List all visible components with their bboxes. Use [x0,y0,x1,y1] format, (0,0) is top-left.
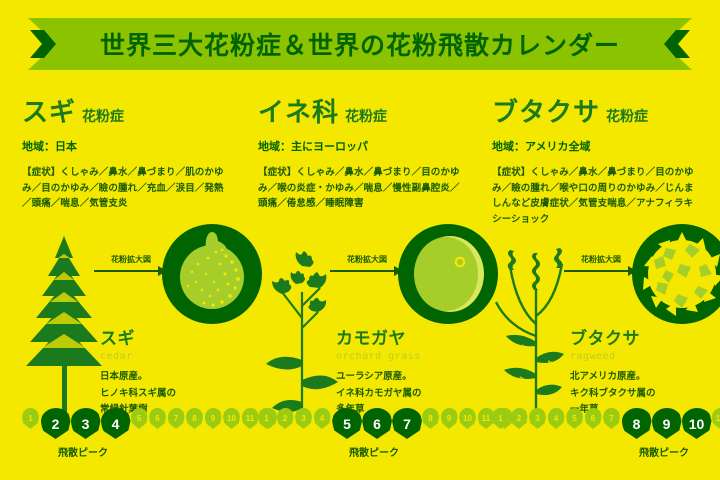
month-pin[interactable]: 3 [295,408,312,429]
month-pin-label: 7 [168,408,185,429]
pollen-column-cedar: スギ 花粉症 地域：日本 【症状】くしゃみ／鼻水／鼻づまり／肌のかゆみ／目のかゆ… [22,92,258,480]
month-pin-label: 11 [712,408,720,429]
month-pin-label: 8 [186,408,203,429]
month-pin[interactable]: 9 [441,408,458,429]
plant-name-jp: ブタクサ [570,324,720,349]
month-pin[interactable]: 7 [168,408,185,429]
month-pin-peak[interactable]: 3 [71,408,101,439]
month-pin[interactable]: 4 [314,408,331,429]
hayfever-suffix: 花粉症 [606,106,648,126]
grass-pollen-magnified [398,224,498,324]
month-pin-label: 6 [149,408,166,429]
plant-name-block: カモガヤ orchard grass ユーラシア原産。 イネ科カモガヤ属の 多年… [336,324,494,419]
month-pin-peak[interactable]: 7 [392,408,422,439]
month-pin-label: 2 [277,408,294,429]
plant-title: ブタクサ [492,92,600,129]
month-pin-label: 1 [22,408,39,429]
zoom-caption: 花粉拡大図 [562,254,640,265]
month-pin-label: 6 [362,408,392,439]
month-pins: 123456789101112 [492,408,720,442]
month-pin-peak[interactable]: 6 [362,408,392,439]
month-pin-label: 8 [622,408,652,439]
month-pin[interactable]: 4 [548,408,565,429]
plant-name-block: スギ cedar 日本原産。 ヒノキ科スギ属の 常緑針葉樹 [100,324,258,419]
month-pin-peak[interactable]: 8 [622,408,652,439]
month-pin-label: 3 [295,408,312,429]
pollen-column-grass: イネ科 花粉症 地域：主にヨーロッパ 【症状】くしゃみ／鼻水／鼻づまり／目のかゆ… [258,92,494,480]
plant-name-jp: カモガヤ [336,324,494,349]
month-pin-label: 7 [392,408,422,439]
plant-name-en: orchard grass [336,351,494,362]
month-pin[interactable]: 5 [131,408,148,429]
column-heading: ブタクサ 花粉症 [492,92,720,129]
region-text: 地域：アメリカ全域 [492,138,720,154]
peak-caption: 飛散ピーク [349,444,399,459]
month-pin[interactable]: 3 [529,408,546,429]
ragweed-pollen-magnified [632,224,720,324]
month-pin[interactable]: 5 [566,408,583,429]
flight-calendar-cedar: 123456789101112 飛散ピーク [22,408,258,464]
month-pin-label: 11 [242,408,259,429]
pollen-column-ragweed: ブタクサ 花粉症 地域：アメリカ全域 【症状】くしゃみ／鼻水／鼻づまり／目のかゆ… [492,92,720,480]
month-pin[interactable]: 1 [22,408,39,429]
plant-name-jp: スギ [100,324,258,349]
month-pin[interactable]: 10 [459,408,476,429]
zoom-arrow-icon [94,270,166,272]
month-pin-label: 4 [314,408,331,429]
month-pin-peak[interactable]: 4 [101,408,131,439]
cedar-pollen-magnified [162,224,262,324]
month-pin-label: 1 [492,408,509,429]
month-pin-label: 7 [603,408,620,429]
month-pin-label: 1 [258,408,275,429]
symptoms-text: 【症状】くしゃみ／鼻水／鼻づまり／目のかゆみ／瞼の腫れ／喉や口の周りのかゆみ／じ… [492,165,700,228]
zoom-arrow-icon [564,270,636,272]
month-pin-label: 3 [529,408,546,429]
month-pin-label: 4 [101,408,131,439]
flight-calendar-grass: 123456789101112 飛散ピーク [258,408,494,464]
symptoms-text: 【症状】くしゃみ／鼻水／鼻づまり／肌のかゆみ／目のかゆみ／瞼の腫れ／充血／涙目／… [22,165,230,212]
zoom-caption: 花粉拡大図 [92,254,170,265]
month-pin-peak[interactable]: 5 [332,408,362,439]
month-pin[interactable]: 8 [186,408,203,429]
month-pin-label: 3 [71,408,101,439]
month-pin-peak[interactable]: 9 [652,408,682,439]
region-text: 地域：日本 [22,138,258,154]
column-heading: スギ 花粉症 [22,92,258,129]
plant-title: スギ [22,92,76,129]
month-pin[interactable]: 2 [511,408,528,429]
month-pin-label: 5 [332,408,362,439]
peak-caption: 飛散ピーク [639,444,689,459]
month-pin-peak[interactable]: 2 [41,408,71,439]
month-pin[interactable]: 11 [712,408,720,429]
page-title: 世界三大花粉症＆世界の花粉飛散カレンダー [0,18,720,70]
month-pin-peak[interactable]: 10 [682,408,712,439]
month-pin-label: 10 [682,408,712,439]
month-pin[interactable]: 1 [492,408,509,429]
month-pins: 123456789101112 [258,408,494,442]
month-pin[interactable]: 7 [603,408,620,429]
month-pin[interactable]: 6 [149,408,166,429]
month-pin-label: 5 [131,408,148,429]
peak-caption: 飛散ピーク [58,444,108,459]
month-pin-label: 10 [459,408,476,429]
symptoms-text: 【症状】くしゃみ／鼻水／鼻づまり／目のかゆみ／喉の炎症・かゆみ／喘息／慢性副鼻腔… [258,165,466,212]
header-banner: 世界三大花粉症＆世界の花粉飛散カレンダー [0,18,720,70]
column-heading: イネ科 花粉症 [258,92,494,129]
region-text: 地域：主にヨーロッパ [258,138,494,154]
month-pin[interactable]: 11 [242,408,259,429]
hayfever-suffix: 花粉症 [345,106,387,126]
month-pin-label: 5 [566,408,583,429]
month-pin-label: 8 [422,408,439,429]
illustration-block: 花粉拡大図 [492,232,720,432]
month-pin[interactable]: 10 [223,408,240,429]
month-pin[interactable]: 8 [422,408,439,429]
month-pin-label: 9 [205,408,222,429]
plant-name-block: ブタクサ ragweed 北アメリカ原産。 キク科ブタクサ属の 一年草 [570,324,720,419]
plant-name-en: cedar [100,351,258,362]
zoom-arrow-icon [330,270,402,272]
columns-container: スギ 花粉症 地域：日本 【症状】くしゃみ／鼻水／鼻づまり／肌のかゆみ／目のかゆ… [0,92,720,480]
month-pin-label: 10 [223,408,240,429]
plant-name-en: ragweed [570,351,720,362]
illustration-block: 花粉拡大図 カモガヤ orchard grass ユーラシア原産。 イネ科カモガ… [258,232,494,432]
month-pin-label: 2 [511,408,528,429]
month-pin[interactable]: 1 [258,408,275,429]
month-pin-label: 6 [585,408,602,429]
month-pin[interactable]: 2 [277,408,294,429]
month-pin-label: 2 [41,408,71,439]
month-pins: 123456789101112 [22,408,258,442]
month-pin[interactable]: 6 [585,408,602,429]
month-pin-label: 9 [441,408,458,429]
zoom-caption: 花粉拡大図 [328,254,406,265]
month-pin-label: 9 [652,408,682,439]
month-pin[interactable]: 9 [205,408,222,429]
illustration-block: 花粉拡大図 [22,232,258,432]
month-pin-label: 4 [548,408,565,429]
pollen-calendar-infographic: { "banner": { "title": "世界三大花粉症＆世界の花粉飛散カ… [0,0,720,480]
hayfever-suffix: 花粉症 [82,106,124,126]
flight-calendar-ragweed: 123456789101112 飛散ピーク [492,408,720,464]
plant-title: イネ科 [258,92,339,129]
